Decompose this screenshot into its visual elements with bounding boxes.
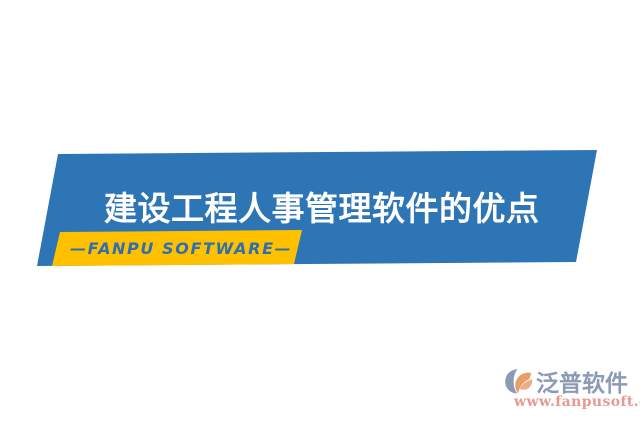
logo-brand-name: 泛普软件: [536, 364, 628, 398]
brand-logo: 泛普软件 www.fanpusoft.com: [504, 366, 636, 416]
brand-tagline: —FANPU SOFTWARE—: [70, 238, 292, 260]
fanpu-swoosh-icon: [504, 367, 534, 395]
logo-website-url: www.fanpusoft.com: [514, 394, 640, 410]
logo-row: 泛普软件: [504, 366, 628, 396]
slide-canvas: 建设工程人事管理软件的优点 —FANPU SOFTWARE— 泛普软件 www.…: [0, 0, 640, 427]
page-title: 建设工程人事管理软件的优点: [104, 186, 534, 232]
